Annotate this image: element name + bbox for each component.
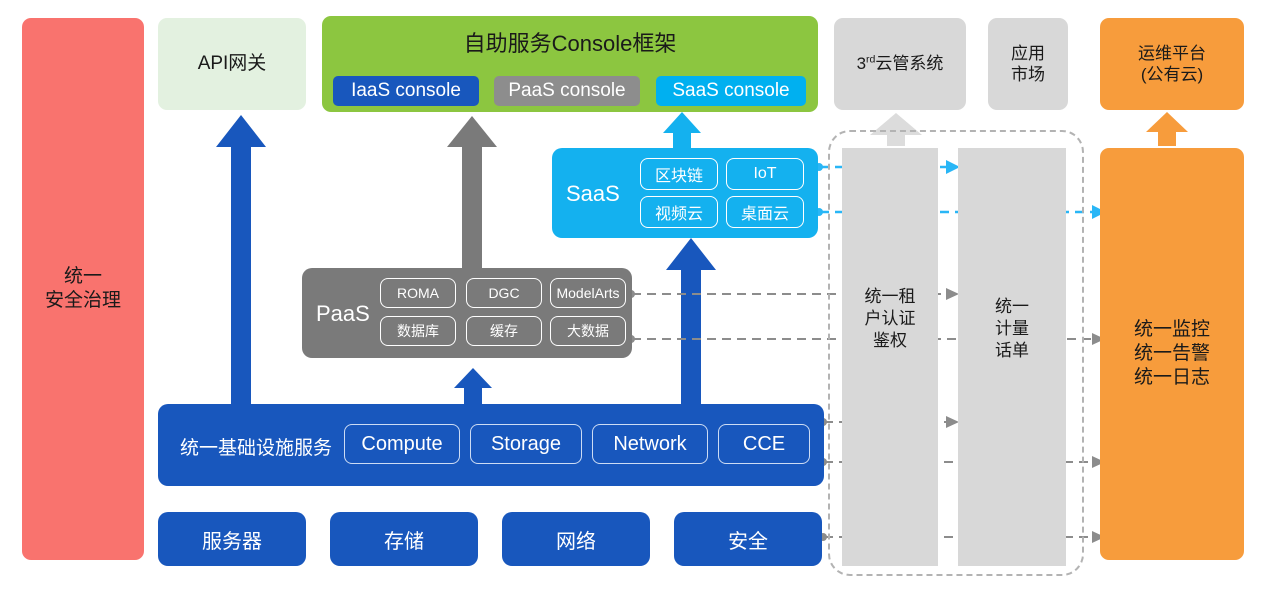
resource-box-network[interactable]: 网络 bbox=[502, 512, 650, 566]
api-gateway-label: API网关 bbox=[198, 52, 267, 76]
shared-service-metering-label: 统一 计量 话单 bbox=[958, 296, 1066, 362]
ops-platform-panel: 统一监控 统一告警 统一日志 bbox=[1100, 148, 1244, 560]
third-party-prefix: 3 bbox=[857, 54, 866, 73]
resource-box-network-label: 网络 bbox=[556, 525, 596, 554]
ops-platform-public-cloud-box[interactable]: 运维平台 (公有云) bbox=[1100, 18, 1244, 110]
paas-item-roma[interactable]: ROMA bbox=[380, 278, 456, 308]
arrow-infra-to-saas bbox=[666, 238, 716, 410]
resource-box-security-label: 安全 bbox=[728, 525, 768, 554]
arrow-infra-to-paas bbox=[454, 368, 492, 407]
shared-service-column-metering[interactable]: 统一 计量 话单 bbox=[958, 148, 1066, 566]
resource-box-server-label: 服务器 bbox=[202, 525, 262, 554]
arrow-infra-to-api-gateway bbox=[216, 115, 266, 410]
third-party-suffix: 云管系统 bbox=[875, 54, 943, 73]
security-governance-panel: 统一 安全治理 bbox=[22, 18, 144, 560]
third-party-cloud-mgmt-label: 3rd云管系统 bbox=[857, 53, 944, 74]
arrow-paas-to-console bbox=[447, 116, 497, 270]
unified-infrastructure-bar: 统一基础设施服务 Compute Storage Network CCE bbox=[158, 404, 824, 486]
saas-group: SaaS 区块链 IoT 视频云 桌面云 bbox=[552, 148, 818, 238]
chip-saas-console-label: SaaS console bbox=[672, 79, 789, 103]
paas-item-cache[interactable]: 缓存 bbox=[466, 316, 542, 346]
ops-platform-public-cloud-line1: 运维平台 bbox=[1138, 43, 1206, 64]
third-party-cloud-mgmt-box[interactable]: 3rd云管系统 bbox=[834, 18, 966, 110]
ops-platform-line3: 统一日志 bbox=[1134, 366, 1210, 390]
paas-item-database[interactable]: 数据库 bbox=[380, 316, 456, 346]
paas-group: PaaS ROMA DGC ModelArts 数据库 缓存 大数据 bbox=[302, 268, 632, 358]
unified-infrastructure-label: 统一基础设施服务 bbox=[180, 433, 332, 460]
paas-item-modelarts[interactable]: ModelArts bbox=[550, 278, 626, 308]
ops-platform-line2: 统一告警 bbox=[1134, 342, 1210, 366]
shared-service-column-auth[interactable]: 统一租 户认证 鉴权 bbox=[842, 148, 938, 566]
app-market-box[interactable]: 应用 市场 bbox=[988, 18, 1068, 110]
saas-item-video-cloud[interactable]: 视频云 bbox=[640, 196, 718, 228]
console-frame-title: 自助服务Console框架 bbox=[322, 30, 818, 58]
saas-group-label: SaaS bbox=[566, 181, 620, 207]
chip-saas-console[interactable]: SaaS console bbox=[656, 76, 806, 106]
app-market-line1: 应用 bbox=[1011, 43, 1045, 64]
arrow-to-ops-platform bbox=[1146, 112, 1188, 146]
ops-platform-line1: 统一监控 bbox=[1134, 318, 1210, 342]
chip-paas-console[interactable]: PaaS console bbox=[494, 76, 640, 106]
shared-service-auth-label: 统一租 户认证 鉴权 bbox=[842, 286, 938, 352]
infra-item-storage[interactable]: Storage bbox=[470, 424, 582, 464]
paas-item-bigdata[interactable]: 大数据 bbox=[550, 316, 626, 346]
infra-item-network[interactable]: Network bbox=[592, 424, 708, 464]
paas-group-label: PaaS bbox=[316, 301, 370, 327]
security-governance-line2: 安全治理 bbox=[45, 289, 121, 313]
security-governance-line1: 统一 bbox=[64, 265, 102, 289]
infra-item-cce[interactable]: CCE bbox=[718, 424, 810, 464]
infra-item-compute[interactable]: Compute bbox=[344, 424, 460, 464]
chip-iaas-console[interactable]: IaaS console bbox=[333, 76, 479, 106]
api-gateway-box[interactable]: API网关 bbox=[158, 18, 306, 110]
resource-box-security[interactable]: 安全 bbox=[674, 512, 822, 566]
resource-box-storage[interactable]: 存储 bbox=[330, 512, 478, 566]
arrow-saas-to-console bbox=[663, 112, 701, 150]
architecture-diagram: 统一 安全治理 API网关 自助服务Console框架 IaaS console… bbox=[0, 0, 1265, 605]
saas-item-iot[interactable]: IoT bbox=[726, 158, 804, 190]
chip-paas-console-label: PaaS console bbox=[508, 79, 625, 103]
resource-box-server[interactable]: 服务器 bbox=[158, 512, 306, 566]
console-frame-panel: 自助服务Console框架 IaaS console PaaS console … bbox=[322, 16, 818, 112]
paas-item-dgc[interactable]: DGC bbox=[466, 278, 542, 308]
ops-platform-public-cloud-line2: (公有云) bbox=[1141, 64, 1203, 85]
resource-box-storage-label: 存储 bbox=[384, 525, 424, 554]
saas-item-desktop-cloud[interactable]: 桌面云 bbox=[726, 196, 804, 228]
saas-item-blockchain[interactable]: 区块链 bbox=[640, 158, 718, 190]
chip-iaas-console-label: IaaS console bbox=[351, 79, 461, 103]
app-market-line2: 市场 bbox=[1011, 64, 1045, 85]
